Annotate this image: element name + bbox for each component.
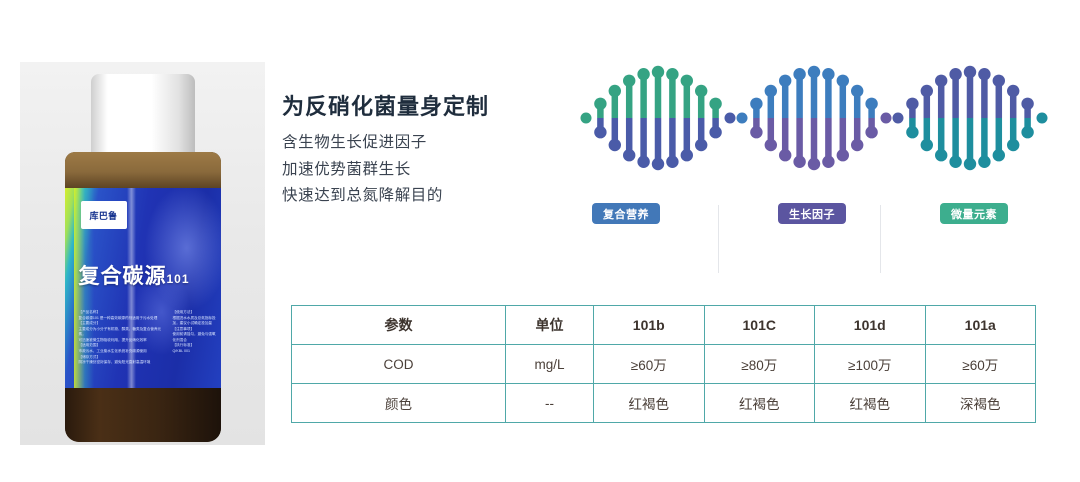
table-cell-cod-unit: mg/L [506, 345, 594, 384]
bottle-cap [91, 74, 195, 158]
bottle-label: 库巴鲁 复合碳源101 【产品名称】 复合碳源101 是一种高效碳源药剂适用于污… [65, 188, 221, 388]
headline-line-3: 快速达到总氮降解目的 [282, 183, 489, 210]
headline-block: 为反硝化菌量身定制 含生物生长促进因子 加速优势菌群生长 快速达到总氮降解目的 [282, 89, 489, 210]
badge-compound-nutrition[interactable]: 复合营养 [592, 203, 660, 224]
table-cell-cod-101c: ≥80万 [704, 345, 815, 384]
headline-title: 为反硝化菌量身定制 [282, 89, 489, 121]
table-cell-color-101d: 红褐色 [815, 384, 926, 423]
product-photo: 库巴鲁 复合碳源101 【产品名称】 复合碳源101 是一种高效碳源药剂适用于污… [20, 62, 265, 445]
table-cell-cod-101b: ≥60万 [594, 345, 705, 384]
badge-trace-elements-label: 微量元素 [951, 206, 997, 222]
bottle-liquid [65, 388, 221, 442]
label-title-main: 复合碳源 [79, 265, 167, 288]
table-cell-color-101a: 深褐色 [925, 384, 1036, 423]
table-header-101a: 101a [925, 306, 1036, 345]
badge-growth-factor[interactable]: 生长因子 [778, 203, 846, 224]
table-cell-color-101b: 红褐色 [594, 384, 705, 423]
label-fineprint-left: 【产品名称】 复合碳源101 是一种高效碳源药剂适用于污水处理 【主要成分】 主… [79, 310, 163, 366]
table-header-row: 参数 单位 101b 101C 101d 101a [292, 306, 1036, 345]
badge-compound-nutrition-label: 复合营养 [603, 206, 649, 222]
table-header-parameter: 参数 [292, 306, 506, 345]
badge-divider-2 [880, 205, 881, 273]
table-header-101d: 101d [815, 306, 926, 345]
brand-logo: 库巴鲁 [81, 201, 127, 229]
dna-helix-svg [580, 58, 1050, 178]
table-row: 颜色 -- 红褐色 红褐色 红褐色 深褐色 [292, 384, 1036, 423]
table-row: COD mg/L ≥60万 ≥80万 ≥100万 ≥60万 [292, 345, 1036, 384]
table-cell-color-unit: -- [506, 384, 594, 423]
dna-helix-icon [580, 58, 1050, 178]
badge-growth-factor-label: 生长因子 [789, 206, 835, 222]
table-cell-color-101c: 红褐色 [704, 384, 815, 423]
bottle-body: 库巴鲁 复合碳源101 【产品名称】 复合碳源101 是一种高效碳源药剂适用于污… [65, 152, 221, 442]
table-cell-cod-name: COD [292, 345, 506, 384]
label-title-suffix: 101 [167, 272, 190, 286]
table-header-unit: 单位 [506, 306, 594, 345]
headline-line-2: 加速优势菌群生长 [282, 157, 489, 184]
feature-badges: 复合营养 生长因子 微量元素 [580, 203, 1050, 273]
table-cell-cod-101a: ≥60万 [925, 345, 1036, 384]
table-cell-color-name: 颜色 [292, 384, 506, 423]
product-spec-page: 库巴鲁 复合碳源101 【产品名称】 复合碳源101 是一种高效碳源药剂适用于污… [0, 0, 1080, 482]
bottle-image: 库巴鲁 复合碳源101 【产品名称】 复合碳源101 是一种高效碳源药剂适用于污… [65, 74, 221, 442]
badge-trace-elements[interactable]: 微量元素 [940, 203, 1008, 224]
table-header-101c: 101C [704, 306, 815, 345]
label-fineprint-right: 【使用方法】 根据进水水质及总氮指标投加，建议小试确定投加量 【注意事项】 使用… [173, 310, 219, 355]
label-title: 复合碳源101 [79, 260, 190, 290]
headline-line-1: 含生物生长促进因子 [282, 130, 489, 157]
brand-logo-text: 库巴鲁 [90, 209, 118, 222]
liquid-foam-layer [65, 152, 221, 188]
spec-table: 参数 单位 101b 101C 101d 101a COD mg/L ≥60万 … [291, 305, 1036, 423]
table-header-101b: 101b [594, 306, 705, 345]
badge-divider-1 [718, 205, 719, 273]
table-cell-cod-101d: ≥100万 [815, 345, 926, 384]
